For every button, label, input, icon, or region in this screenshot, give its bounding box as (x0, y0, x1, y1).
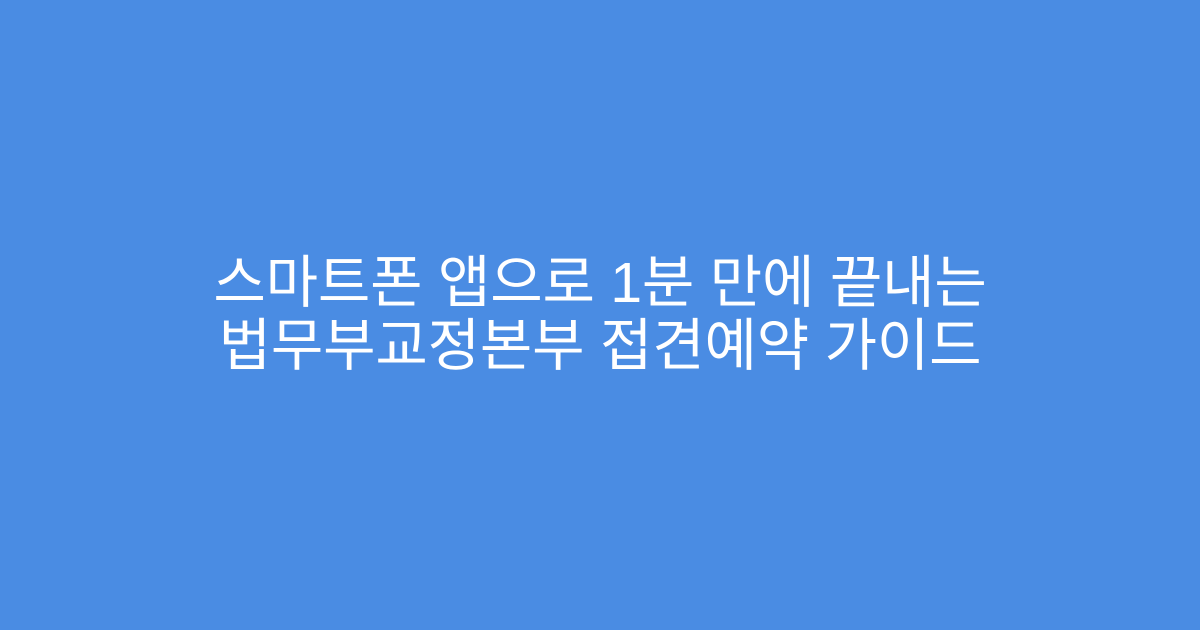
banner-canvas: 스마트폰 앱으로 1분 만에 끝내는 법무부교정본부 접견예약 가이드 (0, 0, 1200, 630)
page-title: 스마트폰 앱으로 1분 만에 끝내는 법무부교정본부 접견예약 가이드 (70, 252, 1130, 378)
banner-content: 스마트폰 앱으로 1분 만에 끝내는 법무부교정본부 접견예약 가이드 (70, 252, 1130, 378)
